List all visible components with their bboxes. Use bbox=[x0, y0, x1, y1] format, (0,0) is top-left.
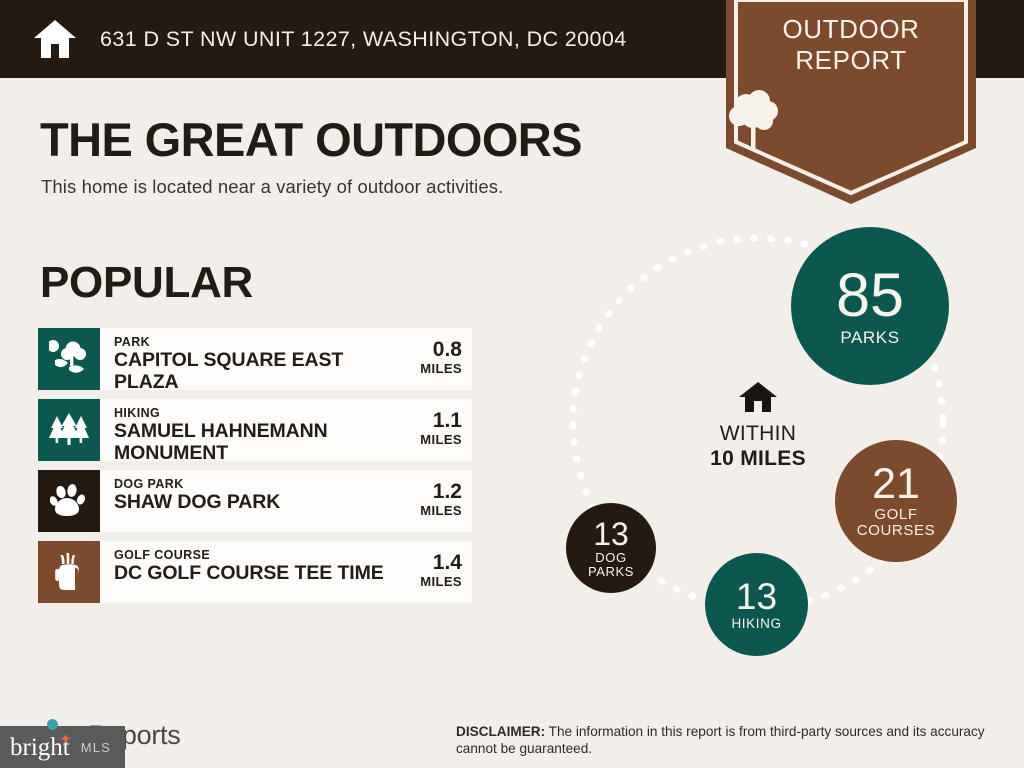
stat-label: HIKING bbox=[731, 616, 781, 631]
badge-title-line2: REPORT bbox=[726, 45, 976, 76]
stat-label-line2: COURSES bbox=[857, 523, 935, 539]
distance-unit: MILES bbox=[410, 361, 462, 376]
disclaimer-label: DISCLAIMER: bbox=[456, 724, 545, 739]
distance-value: 1.1 bbox=[410, 410, 462, 432]
tree-icon bbox=[726, 88, 976, 150]
list-item-body: PARK CAPITOL SQUARE EAST PLAZA bbox=[100, 328, 410, 390]
list-item-name: CAPITOL SQUARE EAST PLAZA bbox=[114, 349, 410, 390]
stat-value: 13 bbox=[593, 518, 629, 550]
within-label: WITHIN bbox=[668, 422, 848, 446]
list-item-name: SAMUEL HAHNEMANN MONUMENT bbox=[114, 420, 410, 461]
distance-value: 1.4 bbox=[410, 552, 462, 574]
stat-value: 85 bbox=[836, 265, 904, 326]
list-item-body: DOG PARK SHAW DOG PARK bbox=[100, 470, 410, 532]
within-radius: 10 MILES bbox=[668, 446, 848, 471]
list-item-distance: 1.1 MILES bbox=[410, 399, 472, 461]
home-icon bbox=[32, 17, 78, 61]
stat-label-line1: GOLF bbox=[874, 507, 917, 523]
star-icon: ✦ bbox=[59, 733, 72, 748]
park-tree-icon bbox=[38, 328, 100, 390]
paw-print-icon bbox=[38, 470, 100, 532]
stat-circle-hiking[interactable]: 13 HIKING bbox=[705, 553, 808, 656]
popular-list: PARK CAPITOL SQUARE EAST PLAZA 0.8 MILES bbox=[38, 328, 472, 612]
stat-label-line2: PARKS bbox=[588, 565, 634, 579]
list-item-name: DC GOLF COURSE TEE TIME bbox=[114, 562, 410, 584]
stat-label-line1: DOG bbox=[595, 551, 626, 565]
map-pin-icon bbox=[47, 719, 58, 730]
badge-title: OUTDOOR REPORT bbox=[726, 14, 976, 76]
disclaimer: DISCLAIMER: The information in this repo… bbox=[456, 723, 996, 757]
distance-unit: MILES bbox=[410, 432, 462, 447]
list-item-category: HIKING bbox=[114, 406, 410, 420]
list-item-name: SHAW DOG PARK bbox=[114, 491, 410, 513]
stat-circle-dog-parks[interactable]: 13 DOG PARKS bbox=[566, 503, 656, 593]
list-item-category: PARK bbox=[114, 335, 410, 349]
watermark-mls-text: MLS bbox=[81, 740, 111, 755]
list-item[interactable]: PARK CAPITOL SQUARE EAST PLAZA 0.8 MILES bbox=[38, 328, 472, 390]
golf-bag-icon bbox=[38, 541, 100, 603]
list-item-distance: 1.2 MILES bbox=[410, 470, 472, 532]
list-item-category: GOLF COURSE bbox=[114, 548, 410, 562]
list-item-distance: 1.4 MILES bbox=[410, 541, 472, 603]
watermark-bright-text: bright ✦ bbox=[10, 735, 70, 760]
list-item[interactable]: DOG PARK SHAW DOG PARK 1.2 MILES bbox=[38, 470, 472, 532]
page-title: THE GREAT OUTDOORS bbox=[40, 112, 582, 167]
list-item-category: DOG PARK bbox=[114, 477, 410, 491]
bright-mls-watermark: bright ✦ MLS bbox=[0, 726, 125, 768]
property-address: 631 D ST NW UNIT 1227, WASHINGTON, DC 20… bbox=[100, 27, 627, 52]
page-subtitle: This home is located near a variety of o… bbox=[41, 176, 503, 198]
list-item-body: HIKING SAMUEL HAHNEMANN MONUMENT bbox=[100, 399, 410, 461]
diagram-center: WITHIN 10 MILES bbox=[668, 380, 848, 471]
distance-unit: MILES bbox=[410, 503, 462, 518]
stat-circle-parks[interactable]: 85 PARKS bbox=[791, 227, 949, 385]
list-item[interactable]: HIKING SAMUEL HAHNEMANN MONUMENT 1.1 MIL… bbox=[38, 399, 472, 461]
list-item-distance: 0.8 MILES bbox=[410, 328, 472, 390]
stat-circle-golf-courses[interactable]: 21 GOLF COURSES bbox=[835, 440, 957, 562]
distance-value: 1.2 bbox=[410, 481, 462, 503]
distance-unit: MILES bbox=[410, 574, 462, 589]
home-icon bbox=[668, 380, 848, 418]
popular-heading: POPULAR bbox=[40, 258, 253, 308]
stat-value: 21 bbox=[872, 463, 920, 506]
outdoor-report-page: 631 D ST NW UNIT 1227, WASHINGTON, DC 20… bbox=[0, 0, 1024, 768]
list-item[interactable]: GOLF COURSE DC GOLF COURSE TEE TIME 1.4 … bbox=[38, 541, 472, 603]
list-item-body: GOLF COURSE DC GOLF COURSE TEE TIME bbox=[100, 541, 410, 603]
stat-label: PARKS bbox=[840, 328, 899, 348]
outdoor-report-badge: OUTDOOR REPORT bbox=[726, 0, 976, 204]
amenity-circle-diagram: 85 PARKS 21 GOLF COURSES 13 HIKING 13 DO… bbox=[540, 215, 1010, 675]
distance-value: 0.8 bbox=[410, 339, 462, 361]
stat-value: 13 bbox=[736, 578, 777, 615]
badge-title-line1: OUTDOOR bbox=[726, 14, 976, 45]
pine-trees-icon bbox=[38, 399, 100, 461]
